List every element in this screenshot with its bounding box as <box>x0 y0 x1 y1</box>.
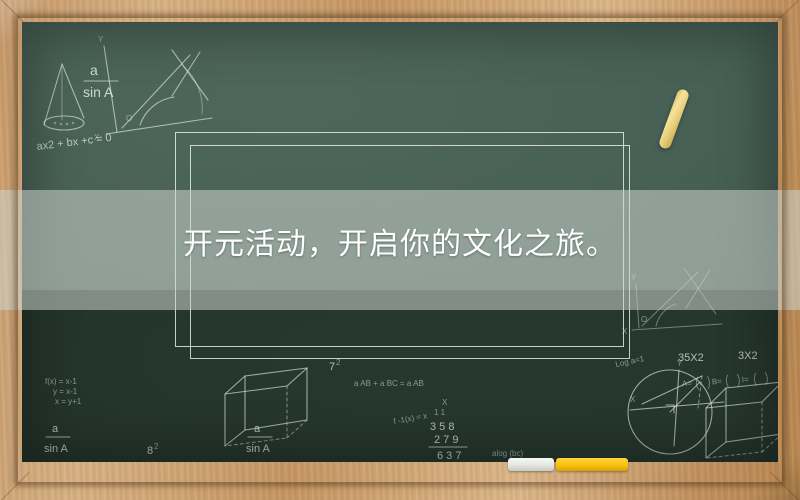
frame-inner-shadow <box>18 18 782 482</box>
chalkboard-banner: a sin A ax2 + bx +c = 0 Y X <box>0 0 800 500</box>
